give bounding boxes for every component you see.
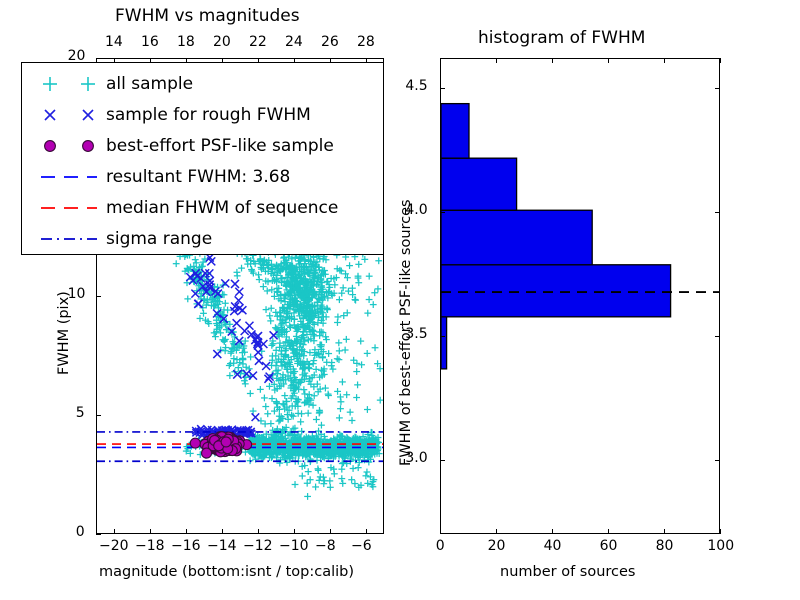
legend-label: all sample (106, 74, 193, 94)
x-tick (222, 529, 223, 534)
hist-y-tick (440, 336, 445, 337)
hist-y-tick-label: 3.0 (405, 450, 427, 466)
legend-item-median-fwhm[interactable]: median FHWM of sequence (22, 192, 383, 223)
circle-marker-icon (36, 136, 102, 156)
x-tick (330, 529, 331, 534)
legend-item-sigma-range[interactable]: sigma range (22, 223, 383, 254)
x-tick-label-top: 28 (357, 34, 375, 50)
hist-x-tick (608, 529, 609, 534)
y-tick (96, 296, 101, 297)
figure-canvas: FWHM vs magnitudes magnitude (bottom:isn… (0, 0, 800, 600)
hist-y-tick-right (715, 460, 720, 461)
hist-y-tick-label: 4.5 (405, 78, 427, 94)
hist-x-tick-label: 60 (600, 538, 618, 554)
x-tick (294, 529, 295, 534)
x-tick-label: −18 (135, 538, 165, 554)
histogram-bar (441, 317, 447, 369)
x-tick-label-top: 26 (321, 34, 339, 50)
hist-y-tick-label: 4.0 (405, 202, 427, 218)
red-dashed-line-icon (36, 198, 102, 218)
plus-marker-icon (36, 74, 102, 94)
hist-x-tick (664, 529, 665, 534)
legend-label: sigma range (106, 229, 212, 249)
legend-item-resultant-fwhm[interactable]: resultant FWHM: 3.68 (22, 161, 383, 192)
scatter-xlabel: magnitude (bottom:isnt / top:calib) (99, 564, 354, 580)
hist-y-tick (440, 88, 445, 89)
x-tick-label-top: 14 (105, 34, 123, 50)
legend-label: median FHWM of sequence (106, 198, 338, 218)
hist-y-tick (440, 212, 445, 213)
scatter-title: FWHM vs magnitudes (115, 6, 300, 26)
legend-label: best-effort PSF-like sample (106, 136, 334, 156)
histogram-plot-area (441, 59, 719, 533)
hist-x-tick-label: 80 (656, 538, 674, 554)
hist-x-tick-label: 40 (544, 538, 562, 554)
legend-item-rough-fwhm[interactable]: sample for rough FWHM (22, 99, 383, 130)
x-tick-label: −20 (99, 538, 129, 554)
x-tick-label-top: 18 (177, 34, 195, 50)
histogram-axes (440, 58, 720, 534)
x-tick-label: −8 (315, 538, 336, 554)
x-tick (366, 529, 367, 534)
x-tick-label-top: 22 (249, 34, 267, 50)
hist-y-tick-right (715, 336, 720, 337)
histogram-bar (441, 104, 469, 159)
legend-item-psf-like[interactable]: best-effort PSF-like sample (22, 130, 383, 161)
y-tick-label: 5 (76, 405, 85, 421)
x-tick (150, 529, 151, 534)
hist-x-tick-label: 0 (436, 538, 445, 554)
x-tick-label: −10 (279, 538, 309, 554)
histogram-title: histogram of FWHM (478, 28, 645, 48)
y-tick (96, 58, 101, 59)
x-tick (258, 529, 259, 534)
histogram-xlabel: number of sources (500, 564, 636, 580)
hist-x-tick-top (608, 58, 609, 63)
hist-x-tick-label: 100 (707, 538, 734, 554)
y-tick (96, 534, 101, 535)
histogram-bar (441, 265, 671, 317)
hist-y-tick-right (715, 88, 720, 89)
hist-y-tick-label: 3.5 (405, 326, 427, 342)
y-tick-label: 0 (76, 524, 85, 540)
scatter-ylabel: FWHM (pix) (56, 291, 72, 375)
hist-x-tick-top (552, 58, 553, 63)
hist-x-tick-top (664, 58, 665, 63)
x-tick-label-top: 16 (141, 34, 159, 50)
cross-marker-icon (36, 105, 102, 125)
legend-box: all sample sample for rough FWHM best-ef… (21, 62, 384, 255)
histogram-bars (441, 59, 719, 533)
hist-x-tick-top (496, 58, 497, 63)
hist-y-tick (440, 460, 445, 461)
hist-x-tick (552, 529, 553, 534)
hist-x-tick-top (720, 58, 721, 63)
x-tick-label-top: 24 (285, 34, 303, 50)
legend-item-all-sample[interactable]: all sample (22, 68, 383, 99)
legend-label: resultant FWHM: 3.68 (106, 167, 290, 187)
x-tick-label: −16 (171, 538, 201, 554)
x-tick-label: −6 (351, 538, 372, 554)
hist-x-tick-label: 20 (488, 538, 506, 554)
histogram-bar (441, 158, 517, 210)
x-tick (114, 529, 115, 534)
y-tick (96, 415, 101, 416)
blue-dashdot-line-icon (36, 229, 102, 249)
hist-y-tick-right (715, 212, 720, 213)
legend-label: sample for rough FWHM (106, 105, 311, 125)
x-tick-label: −14 (207, 538, 237, 554)
blue-dashed-line-icon (36, 167, 102, 187)
hist-x-tick (440, 529, 441, 534)
x-tick (186, 529, 187, 534)
histogram-bar (441, 210, 592, 265)
hist-x-tick-top (440, 58, 441, 63)
x-tick-label: −12 (243, 538, 273, 554)
x-tick-label-top: 20 (213, 34, 231, 50)
y-tick-label: 10 (68, 286, 86, 302)
hist-x-tick (496, 529, 497, 534)
hist-x-tick (720, 529, 721, 534)
